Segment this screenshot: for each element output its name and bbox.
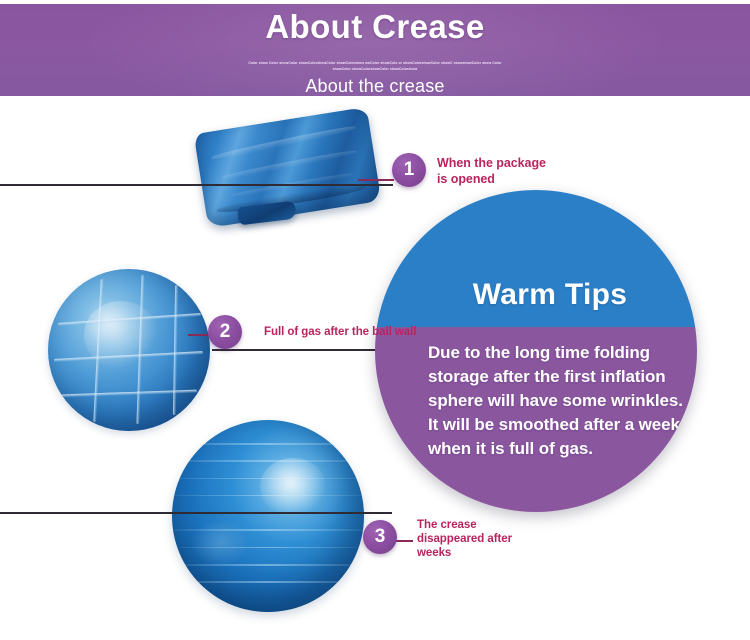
callout-step-1-text: When the package is opened — [437, 156, 546, 187]
page-header: About Crease Color show Color showColor … — [0, 4, 750, 96]
smooth-ball-highlight — [260, 458, 325, 516]
header-filler-text: Color show Color showColor showColorshow… — [0, 61, 750, 72]
ball-rib-1 — [172, 443, 364, 445]
divider-rule-1 — [0, 184, 393, 186]
callout-step-3-text: The crease disappeared after weeks — [417, 518, 512, 560]
step-badge-2: 2 — [208, 315, 242, 349]
callout-step-3: 3 The crease disappeared after weeks — [363, 520, 512, 560]
ball-rib-8 — [172, 564, 364, 566]
divider-rule-3 — [0, 512, 392, 514]
step-badge-1: 1 — [392, 153, 426, 187]
creased-ball-image — [48, 269, 210, 431]
ball-rib-2 — [172, 460, 364, 462]
callout-3-line-2: disappeared after — [417, 532, 512, 546]
content-canvas: Warm Tips Due to the long time folding s… — [0, 96, 750, 640]
ball-rib-9 — [172, 581, 364, 583]
warm-tips-circle: Warm Tips Due to the long time folding s… — [375, 190, 697, 512]
crease-line-h3 — [61, 390, 197, 397]
package-image — [196, 110, 386, 235]
page-title: About Crease — [0, 8, 750, 46]
smooth-ball-image — [172, 420, 364, 612]
callout-step-2: 2 Full of gas after the ball wall — [208, 315, 416, 349]
callout-3-line-3: weeks — [417, 546, 512, 560]
callout-2-line-1: Full of gas after the ball wall — [264, 325, 416, 339]
callout-step-1: 1 When the package is opened — [392, 153, 546, 187]
warm-tips-title: Warm Tips — [375, 278, 697, 312]
smooth-ball-secondary-highlight — [191, 520, 249, 566]
callout-3-line-1: The crease — [417, 518, 512, 532]
header-subtitle: About the crease — [0, 76, 750, 96]
callout-1-line-2: is opened — [437, 172, 546, 188]
crease-line-v3 — [173, 285, 178, 415]
callout-step-2-text: Full of gas after the ball wall — [264, 325, 416, 339]
warm-tips-body: Due to the long time folding storage aft… — [428, 341, 684, 461]
callout-1-line-1: When the package — [437, 156, 546, 172]
leader-line-1 — [358, 179, 394, 181]
step-badge-3: 3 — [363, 520, 397, 554]
